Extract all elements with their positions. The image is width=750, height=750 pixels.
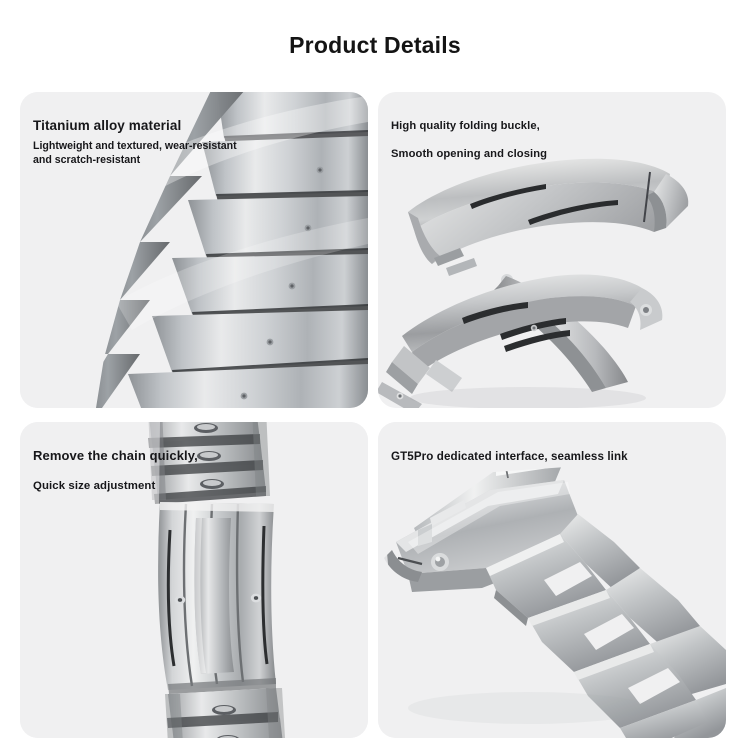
panel-heading: Titanium alloy material bbox=[33, 118, 248, 133]
panel-subtext: Lightweight and textured, wear-resistant… bbox=[33, 139, 248, 167]
panel-folding-buckle[interactable]: High quality folding buckle, Smooth open… bbox=[378, 92, 726, 408]
panel-line-2: Smooth opening and closing bbox=[391, 148, 547, 160]
panel-caption-gt5pro: GT5Pro dedicated interface, seamless lin… bbox=[391, 450, 628, 463]
panel-titanium-alloy-material[interactable]: Titanium alloy material Lightweight and … bbox=[20, 92, 368, 408]
panel-gt5pro-interface[interactable]: GT5Pro dedicated interface, seamless lin… bbox=[378, 422, 726, 738]
panel-line-2: Quick size adjustment bbox=[33, 480, 198, 492]
gt5pro-connector-image bbox=[378, 422, 726, 738]
product-details-grid: Titanium alloy material Lightweight and … bbox=[20, 92, 730, 738]
panel-caption-titanium: Titanium alloy material Lightweight and … bbox=[33, 118, 248, 167]
page-title: Product Details bbox=[0, 32, 750, 59]
panel-line-1: High quality folding buckle, bbox=[391, 120, 547, 132]
panel-remove-chain-quickly[interactable]: Remove the chain quickly, Quick size adj… bbox=[20, 422, 368, 738]
panel-line-1: Remove the chain quickly, bbox=[33, 448, 198, 463]
panel-line-1: GT5Pro dedicated interface, seamless lin… bbox=[391, 450, 628, 463]
panel-caption-remove-chain: Remove the chain quickly, Quick size adj… bbox=[33, 448, 198, 492]
panel-caption-buckle: High quality folding buckle, Smooth open… bbox=[391, 120, 547, 160]
